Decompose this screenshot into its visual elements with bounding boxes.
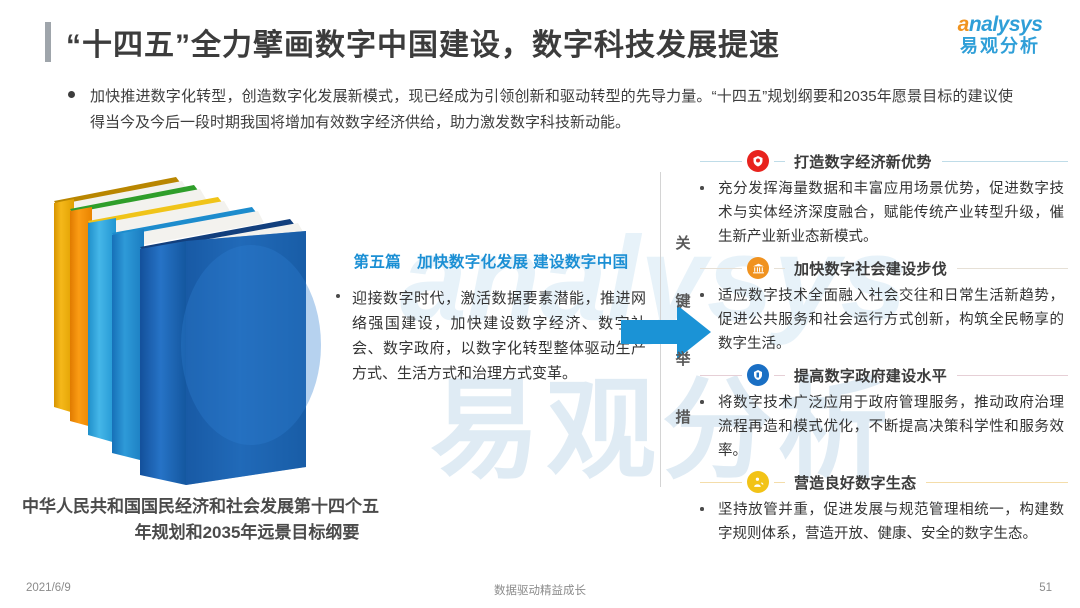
divider-right: [926, 482, 1068, 483]
person-eco-icon: [747, 471, 769, 493]
intro-text: 加快推进数字化转型，创造数字化发展新模式，现已经成为引领创新和驱动转型的先导力量…: [90, 84, 1013, 136]
section-text: 坚持放管并重，促进发展与规范管理相统一，构建数字规则体系，营造开放、健康、安全的…: [718, 498, 1068, 546]
divider-short: [774, 482, 785, 483]
section-title: 营造良好数字生态: [794, 472, 916, 493]
divider-right: [957, 375, 1068, 376]
footer-page-number: 51: [1039, 582, 1052, 594]
bank-building-icon: [747, 257, 769, 279]
middle-body: 迎接数字时代，激活数据要素潜能，推进网络强国建设，加快建设数字经济、数字社会、数…: [336, 286, 646, 386]
brand-logo: analysys 易观分析: [940, 14, 1060, 58]
bullet-dot-icon: [336, 286, 352, 386]
divider-left: [700, 161, 742, 162]
slide-footer: 2021/6/9 数据驱动精益成长 51: [0, 574, 1080, 608]
section-header: 加快数字社会建设步伐: [700, 255, 1068, 281]
right-panel: 打造数字经济新优势 充分发挥海量数据和丰富应用场景优势，促进数字技术与实体经济深…: [700, 148, 1068, 552]
divider-right: [957, 268, 1068, 269]
divider-left: [700, 482, 742, 483]
vertical-label-char: 键: [672, 273, 694, 331]
section-text: 将数字技术广泛应用于政府管理服务，推动政府治理流程再造和模式优化，不断提高决策科…: [718, 391, 1068, 463]
divider-left: [700, 375, 742, 376]
section-body: 适应数字技术全面融入社会交往和日常生活新趋势，促进公共服务和社会运行方式创新，构…: [700, 284, 1068, 356]
middle-heading: 第五篇 加快数字化发展 建设数字中国: [336, 250, 646, 272]
page-title: “十四五”全力擘画数字中国建设，数字科技发展提速: [66, 20, 780, 64]
books-svg: [36, 165, 336, 495]
section-title: 提高数字政府建设水平: [794, 365, 947, 386]
slide-root: analysys 易观分析 “十四五”全力擘画数字中国建设，数字科技发展提速 a…: [0, 0, 1080, 608]
arrow-right-icon: [621, 303, 713, 366]
section-title: 打造数字经济新优势: [794, 151, 932, 172]
section-digital-economy: 打造数字经济新优势 充分发挥海量数据和丰富应用场景优势，促进数字技术与实体经济深…: [700, 148, 1068, 249]
divider-short: [774, 375, 785, 376]
caption-line-2: 年规划和2035年远景目标纲要: [22, 520, 462, 546]
middle-text: 迎接数字时代，激活数据要素潜能，推进网络强国建设，加快建设数字经济、数字社会、数…: [352, 286, 646, 386]
section-header: 提高数字政府建设水平: [700, 362, 1068, 388]
logo-en-rest: nalysys: [969, 13, 1043, 36]
middle-column: 第五篇 加快数字化发展 建设数字中国 迎接数字时代，激活数据要素潜能，推进网络强…: [336, 250, 646, 386]
section-text: 充分发挥海量数据和丰富应用场景优势，促进数字技术与实体经济深度融合，赋能传统产业…: [718, 177, 1068, 249]
bullet-dot-icon: [700, 391, 718, 463]
section-body: 将数字技术广泛应用于政府管理服务，推动政府治理流程再造和模式优化，不断提高决策科…: [700, 391, 1068, 463]
bullet-dot-icon: [68, 84, 90, 136]
divider-right: [942, 161, 1068, 162]
books-caption: 中华人民共和国国民经济和社会发展第十四个五 年规划和2035年远景目标纲要: [22, 494, 462, 546]
vertical-label-char: 举: [672, 331, 694, 389]
bullet-dot-icon: [700, 177, 718, 249]
shield-star-icon: [747, 150, 769, 172]
logo-cn-text: 易观分析: [940, 36, 1060, 58]
section-title: 加快数字社会建设步伐: [794, 258, 947, 279]
logo-en-text: analysys: [940, 14, 1060, 36]
section-digital-government: 提高数字政府建设水平 将数字技术广泛应用于政府管理服务，推动政府治理流程再造和模…: [700, 362, 1068, 463]
title-accent-bar: [45, 22, 51, 62]
divider-short: [774, 268, 785, 269]
section-header: 营造良好数字生态: [700, 469, 1068, 495]
logo-a-mark: a: [958, 13, 969, 36]
vertical-label-key-measures: 关 键 举 措: [672, 215, 694, 447]
section-digital-ecosystem: 营造良好数字生态 坚持放管并重，促进发展与规范管理相统一，构建数字规则体系，营造…: [700, 469, 1068, 546]
section-digital-society: 加快数字社会建设步伐 适应数字技术全面融入社会交往和日常生活新趋势，促进公共服务…: [700, 255, 1068, 356]
footer-slogan: 数据驱动精益成长: [0, 582, 1080, 598]
section-header: 打造数字经济新优势: [700, 148, 1068, 174]
arrow-svg: [621, 303, 713, 361]
bullet-dot-icon: [700, 498, 718, 546]
vertical-label-char: 关: [672, 215, 694, 273]
intro-bullet: 加快推进数字化转型，创造数字化发展新模式，现已经成为引领创新和驱动转型的先导力量…: [68, 84, 1013, 136]
divider-left: [700, 268, 742, 269]
section-body: 充分发挥海量数据和丰富应用场景优势，促进数字技术与实体经济深度融合，赋能传统产业…: [700, 177, 1068, 249]
divider-short: [774, 161, 785, 162]
shield-check-icon: [747, 364, 769, 386]
vertical-label-char: 措: [672, 389, 694, 447]
section-body: 坚持放管并重，促进发展与规范管理相统一，构建数字规则体系，营造开放、健康、安全的…: [700, 498, 1068, 546]
caption-line-1: 中华人民共和国国民经济和社会发展第十四个五: [22, 494, 462, 520]
books-illustration: [36, 165, 336, 495]
section-text: 适应数字技术全面融入社会交往和日常生活新趋势，促进公共服务和社会运行方式创新，构…: [718, 284, 1068, 356]
